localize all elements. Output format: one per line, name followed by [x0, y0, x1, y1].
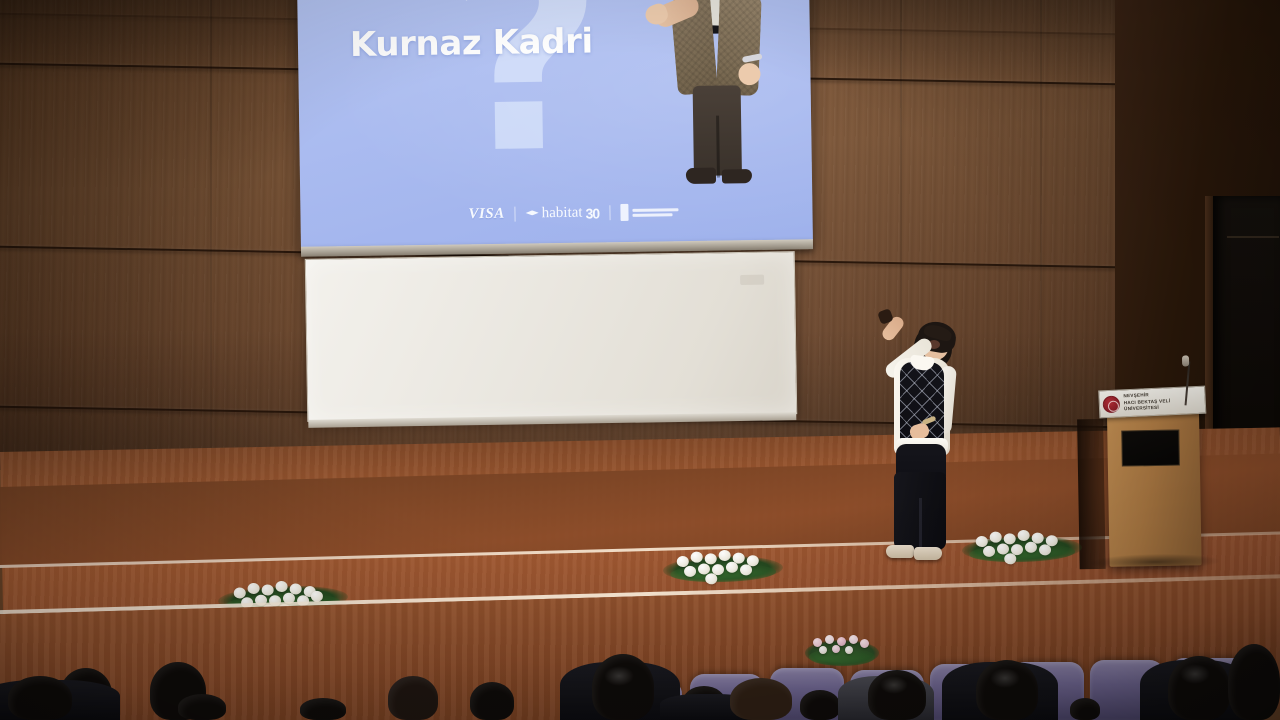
- slide-title: Kurnaz Kadri: [350, 21, 593, 65]
- projected-slide: ? Kurnaz Kadri: [297, 0, 813, 248]
- habitat-logo-suffix: 30: [585, 205, 599, 221]
- graduation-cap-icon: [526, 209, 539, 218]
- audience-member: [300, 698, 346, 720]
- mascot-character-illustration: [649, 0, 785, 195]
- lectern[interactable]: NEVŞEHİR HACI BEKTAŞ VELİ ÜNİVERSİTESİ: [1098, 377, 1209, 567]
- sponsor-wordmark: [632, 208, 678, 217]
- conference-hall-photo: ? Kurnaz Kadri: [0, 0, 1280, 720]
- visa-logo: VISA: [468, 206, 504, 224]
- audience-member: [8, 676, 72, 720]
- floral-arrangement: [662, 546, 783, 591]
- slide-sponsor-logos: VISA habitat 30: [468, 203, 678, 223]
- audience-member: [800, 690, 840, 720]
- wall-vertical-seam: [210, 0, 212, 470]
- logo-divider: [515, 207, 516, 222]
- university-seal-icon: [1102, 395, 1120, 413]
- door-panel-line: [1227, 236, 1279, 238]
- microphone-icon: [1182, 355, 1189, 366]
- audience-member: [730, 678, 792, 720]
- audience-member: [1228, 644, 1280, 720]
- whiteboard: [305, 251, 797, 422]
- university-name-sign: NEVŞEHİR HACI BEKTAŞ VELİ ÜNİVERSİTESİ: [1098, 386, 1206, 419]
- audience-member: [470, 682, 514, 720]
- projection-screen: ? Kurnaz Kadri: [297, 0, 813, 248]
- whiteboard-smudge: [740, 275, 764, 285]
- wall-vertical-seam: [1040, 0, 1042, 470]
- audience-member: [388, 676, 438, 720]
- audience-member: [592, 654, 654, 720]
- logo-divider: [609, 205, 610, 220]
- presenter: [866, 306, 972, 568]
- sponsor-mark-icon: [620, 204, 628, 221]
- floral-arrangement: [961, 526, 1082, 571]
- audience-member: [178, 694, 226, 720]
- audience-seating: [0, 596, 1280, 720]
- university-name-text: NEVŞEHİR HACI BEKTAŞ VELİ ÜNİVERSİTESİ: [1123, 391, 1170, 413]
- audience-member: [1070, 698, 1100, 720]
- sponsor-logo: [620, 203, 678, 221]
- habitat-logo: habitat 30: [526, 204, 600, 222]
- lectern-dark-panel: [1121, 430, 1180, 467]
- habitat-logo-label: habitat: [542, 205, 583, 223]
